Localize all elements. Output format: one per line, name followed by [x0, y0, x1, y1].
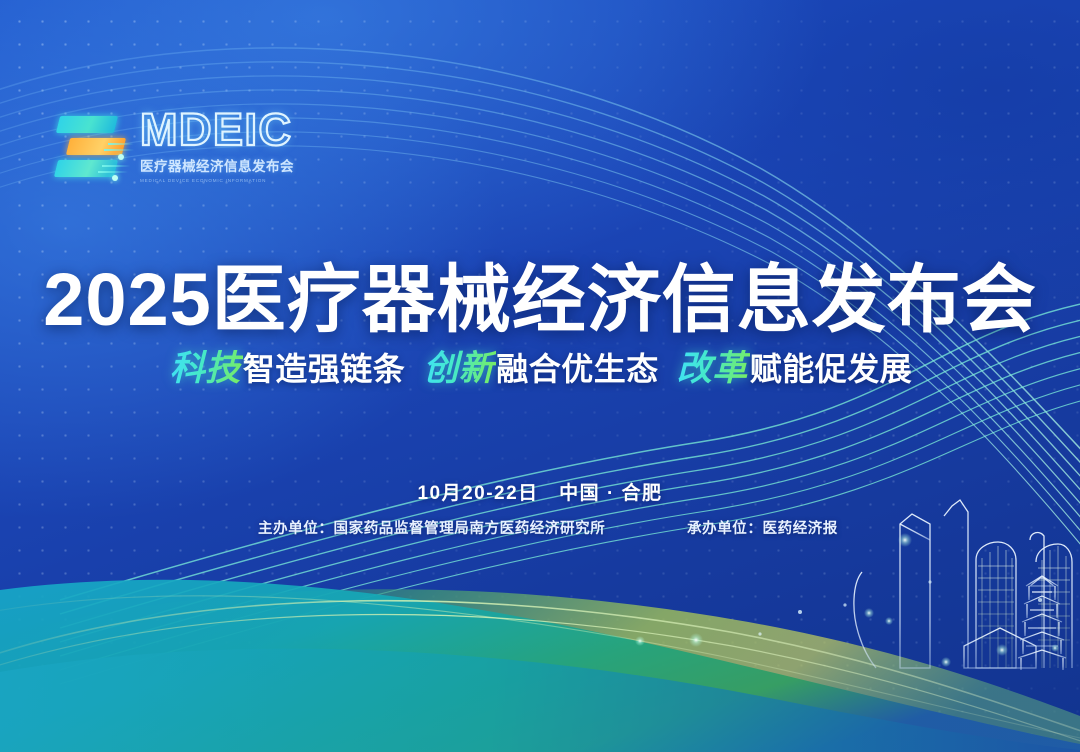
logo-bar-bottom	[54, 160, 118, 177]
poster-canvas: MDEIC 医疗器械经济信息发布会 MEDICAL DEVICE ECONOMI…	[0, 0, 1080, 752]
slogan-part-1: 智造强链条	[243, 344, 406, 390]
slogan-part-2: 创新	[421, 340, 496, 391]
brand-logo: MDEIC 医疗器械经济信息发布会 MEDICAL DEVICE ECONOMI…	[54, 108, 294, 184]
logo-streak-2	[104, 149, 134, 151]
logo-bar-top	[56, 116, 118, 133]
date-location: 10月20-22日 中国 · 合肥	[0, 478, 1080, 505]
organizer-row: 主办单位：国家药品监督管理局南方医药经济研究所 承办单位：医药经济报	[258, 517, 838, 538]
slogan-part-3: 融合优生态	[496, 344, 659, 390]
logo-acronym: MDEIC	[140, 109, 294, 152]
poster-slogan: 科技智造强链条创新融合优生态改革赋能促发展	[0, 340, 1080, 391]
slogan-part-4: 改革	[675, 340, 750, 391]
logo-streak-3	[102, 165, 130, 167]
logo-streak-4	[98, 171, 128, 173]
logo-dot-1	[118, 154, 124, 160]
organizer-executor: 承办单位：医药经济报	[687, 517, 838, 538]
poster-headline: 2025医疗器械经济信息发布会	[0, 240, 1080, 347]
logo-chinese-name: 医疗器械经济信息发布会	[140, 155, 294, 175]
logo-text-block: MDEIC 医疗器械经济信息发布会 MEDICAL DEVICE ECONOMI…	[140, 109, 294, 183]
logo-english-name: MEDICAL DEVICE ECONOMIC INFORMATION CONF…	[140, 178, 266, 183]
slogan-part-5: 赋能促发展	[750, 344, 913, 390]
organizer-host: 主办单位：国家药品监督管理局南方医药经济研究所	[258, 517, 605, 538]
slogan-part-0: 科技	[168, 340, 243, 391]
logo-bar-middle	[66, 138, 126, 155]
logo-dot-2	[112, 175, 118, 181]
logo-streak-1	[108, 143, 134, 145]
mdeic-logo-mark-icon	[54, 108, 128, 184]
